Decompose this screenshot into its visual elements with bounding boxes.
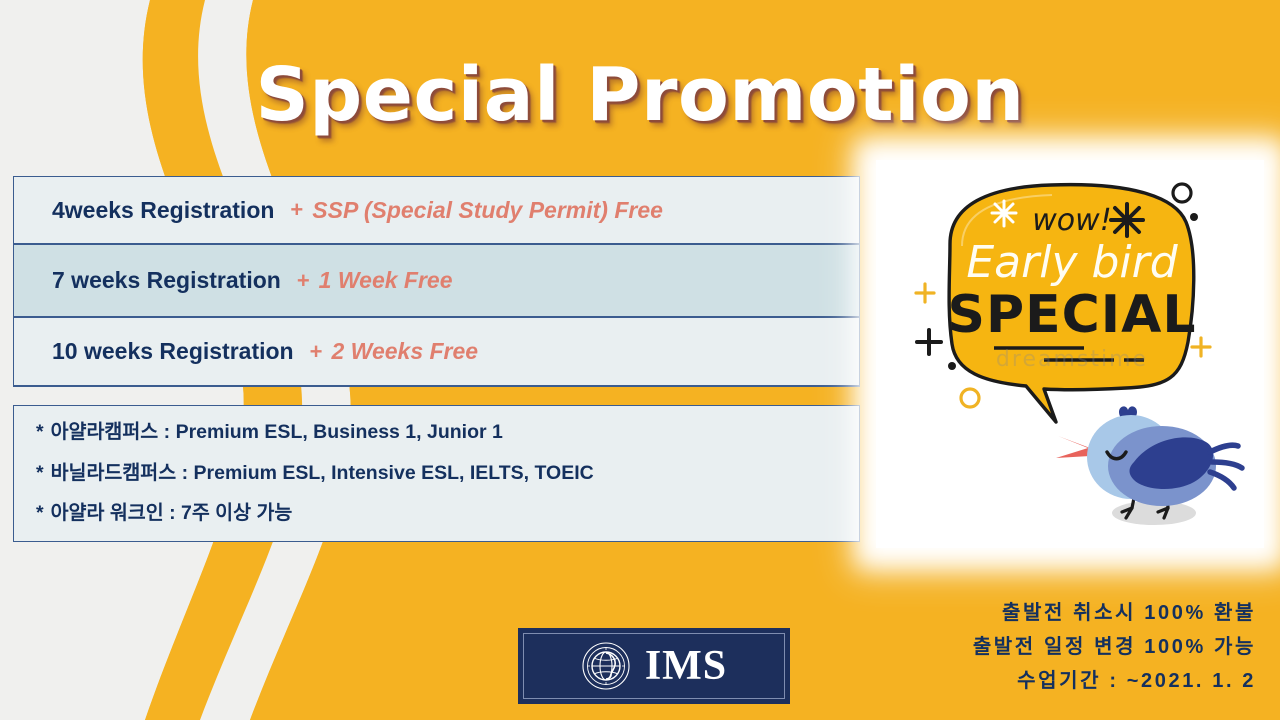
deco-plus-yellow: [916, 284, 934, 302]
sparkle-dark-icon: [1111, 204, 1143, 236]
bullet-star-icon: *: [36, 462, 44, 484]
ims-emblem-icon: [581, 641, 631, 691]
deco-circle-yellow: [961, 389, 979, 407]
plus-sign: +: [297, 268, 310, 294]
early-bird-illustration: wow! Early bird SPECIAL dreamstime: [876, 160, 1264, 548]
notes-box: *아얄라캠퍼스 : Premium ESL, Business 1, Junio…: [13, 405, 860, 542]
deco-dot: [1190, 213, 1198, 221]
ims-wordmark: IMS: [645, 645, 727, 687]
note-text: 아얄라 워크인 : 7주 이상 가능: [51, 502, 293, 524]
list-item: *아얄라 워크인 : 7주 이상 가능: [36, 504, 859, 524]
stock-watermark: dreamstime: [996, 347, 1148, 372]
table-row: 4weeks Registration + SSP (Special Study…: [13, 176, 860, 245]
offer-term: 4weeks Registration: [52, 197, 274, 224]
table-row: 10 weeks Registration + 2 Weeks Free: [13, 318, 860, 387]
refund-line: 수업기간 : ~2021. 1. 2: [973, 664, 1256, 698]
artwork-exclaim: wow!: [1032, 203, 1111, 238]
plus-sign: +: [310, 339, 323, 365]
bullet-star-icon: *: [36, 502, 44, 524]
bird-beak: [1056, 436, 1090, 458]
promotion-poster: Special Promotion 4weeks Registration + …: [0, 0, 1280, 720]
offer-bonus: 1 Week Free: [319, 267, 453, 294]
offer-term: 10 weeks Registration: [52, 338, 294, 365]
list-item: *아얄라캠퍼스 : Premium ESL, Business 1, Junio…: [36, 423, 859, 443]
offer-bonus: 2 Weeks Free: [331, 338, 478, 365]
bullet-star-icon: *: [36, 421, 44, 443]
refund-policy-block: 출발전 취소시 100% 환불 출발전 일정 변경 100% 가능 수업기간 :…: [973, 596, 1256, 698]
artwork-subhead: SPECIAL: [948, 285, 1197, 345]
offer-term: 7 weeks Registration: [52, 267, 281, 294]
artwork-headline: Early bird: [966, 237, 1178, 288]
refund-line: 출발전 일정 변경 100% 가능: [973, 630, 1256, 664]
deco-circle-outline: [1173, 184, 1191, 202]
table-row: 7 weeks Registration + 1 Week Free: [13, 245, 860, 318]
offer-bonus: SSP (Special Study Permit) Free: [312, 197, 663, 224]
deco-plus-dark: [917, 330, 941, 354]
page-title: Special Promotion: [0, 52, 1280, 138]
ims-logo: IMS: [518, 628, 790, 704]
plus-sign: +: [290, 197, 303, 223]
list-item: *바닐라드캠퍼스 : Premium ESL, Intensive ESL, I…: [36, 464, 859, 484]
deco-dot: [948, 362, 956, 370]
note-text: 바닐라드캠퍼스 : Premium ESL, Intensive ESL, IE…: [51, 462, 594, 484]
refund-line: 출발전 취소시 100% 환불: [973, 596, 1256, 630]
note-text: 아얄라캠퍼스 : Premium ESL, Business 1, Junior…: [51, 421, 503, 443]
offer-table: 4weeks Registration + SSP (Special Study…: [13, 176, 860, 387]
sparkle-white-icon: [992, 201, 1016, 226]
